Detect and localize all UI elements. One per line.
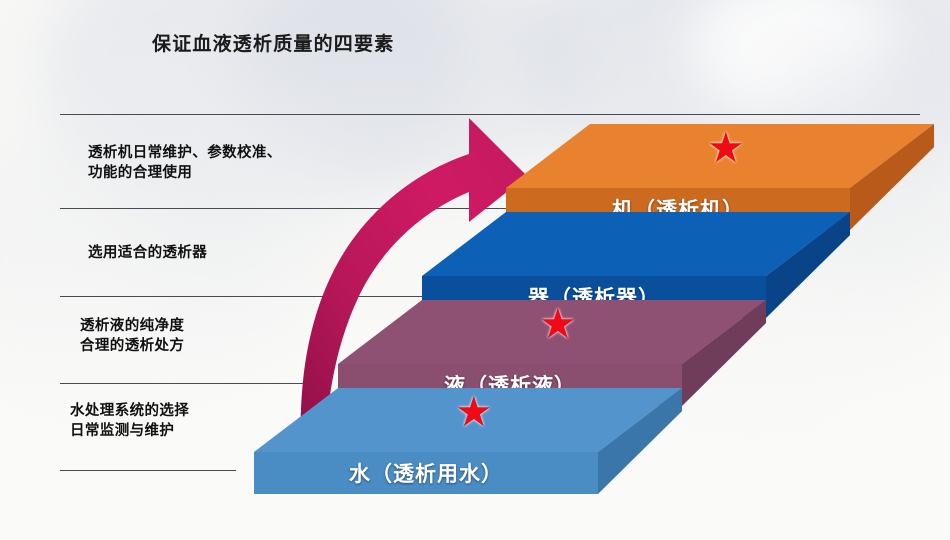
description-machine: 透析机日常维护、参数校准、 功能的合理使用: [88, 143, 282, 183]
red-star-icon-machine: ★: [707, 127, 745, 169]
red-star-icon-water: ★: [455, 391, 493, 433]
step-block-water[interactable]: ★水（透析用水）: [254, 388, 682, 494]
description-dialysate: 透析液的纯净度 合理的透析处方: [80, 316, 184, 356]
description-dialyzer: 选用适合的透析器: [88, 243, 207, 263]
red-star-icon-dialysate: ★: [539, 303, 577, 345]
divider-line-5: [60, 470, 236, 471]
step-label-water: 水（透析用水）: [254, 458, 598, 488]
page-title: 保证血液透析质量的四要素: [152, 29, 394, 56]
slide-canvas: 保证血液透析质量的四要素 透析机日常维护、参数校准、 功能的合理使用选用适合的透…: [0, 0, 950, 540]
description-water: 水处理系统的选择 日常监测与维护: [70, 401, 189, 441]
